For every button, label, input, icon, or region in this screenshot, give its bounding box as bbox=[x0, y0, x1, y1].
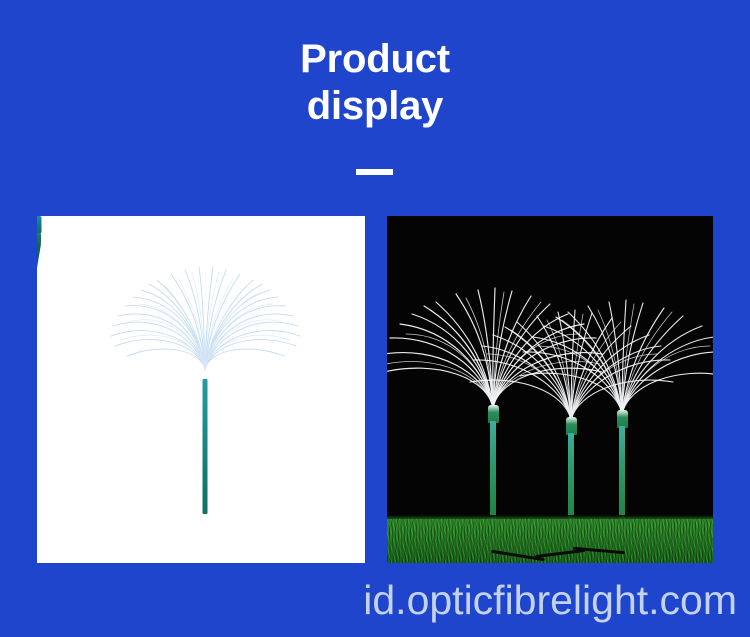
page-title: Product display bbox=[0, 36, 750, 130]
lamp-collar bbox=[37, 216, 42, 233]
fiber-burst-icon bbox=[105, 260, 305, 370]
lamp-stem bbox=[203, 379, 208, 514]
title-divider bbox=[356, 169, 393, 175]
product-display-banner: Product display bbox=[0, 0, 750, 637]
product-image-studio bbox=[37, 216, 365, 563]
page-title-line-2: display bbox=[0, 83, 750, 130]
fiber-optic-lamp-unlit bbox=[37, 216, 365, 563]
lamp-ground-spike bbox=[37, 244, 41, 268]
grass-ground bbox=[387, 519, 713, 563]
product-image-night bbox=[387, 216, 713, 563]
watermark-url: id.opticfibrelight.com bbox=[0, 563, 737, 637]
lamp-spike-collar bbox=[37, 233, 41, 244]
fiber-burst-icon bbox=[514, 294, 713, 414]
page-title-line-1: Product bbox=[0, 36, 750, 83]
